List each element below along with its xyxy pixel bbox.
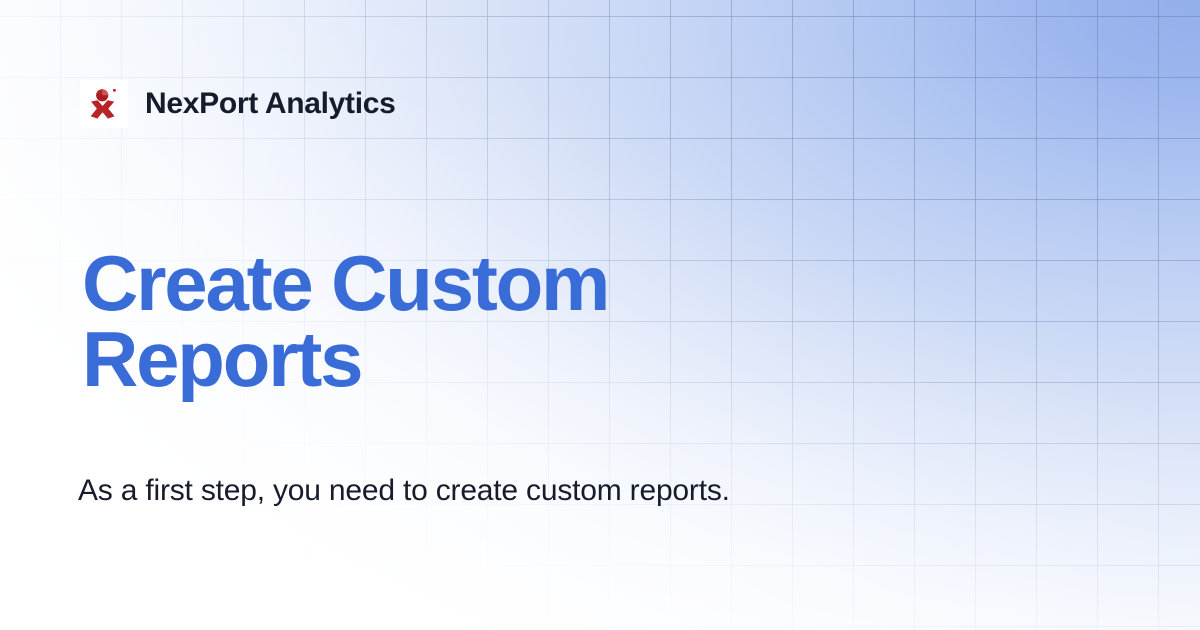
page-title: Create Custom Reports: [82, 245, 812, 398]
brand-logo-tile: [80, 80, 128, 128]
nexport-x-figure-logo-icon: [88, 87, 120, 121]
hero-banner: NexPort Analytics Create Custom Reports …: [0, 0, 1200, 630]
banner-content: NexPort Analytics Create Custom Reports …: [0, 0, 1200, 630]
page-subtitle: As a first step, you need to create cust…: [78, 470, 838, 511]
brand-name: NexPort Analytics: [145, 89, 396, 119]
brand-lockup: NexPort Analytics: [80, 80, 396, 128]
